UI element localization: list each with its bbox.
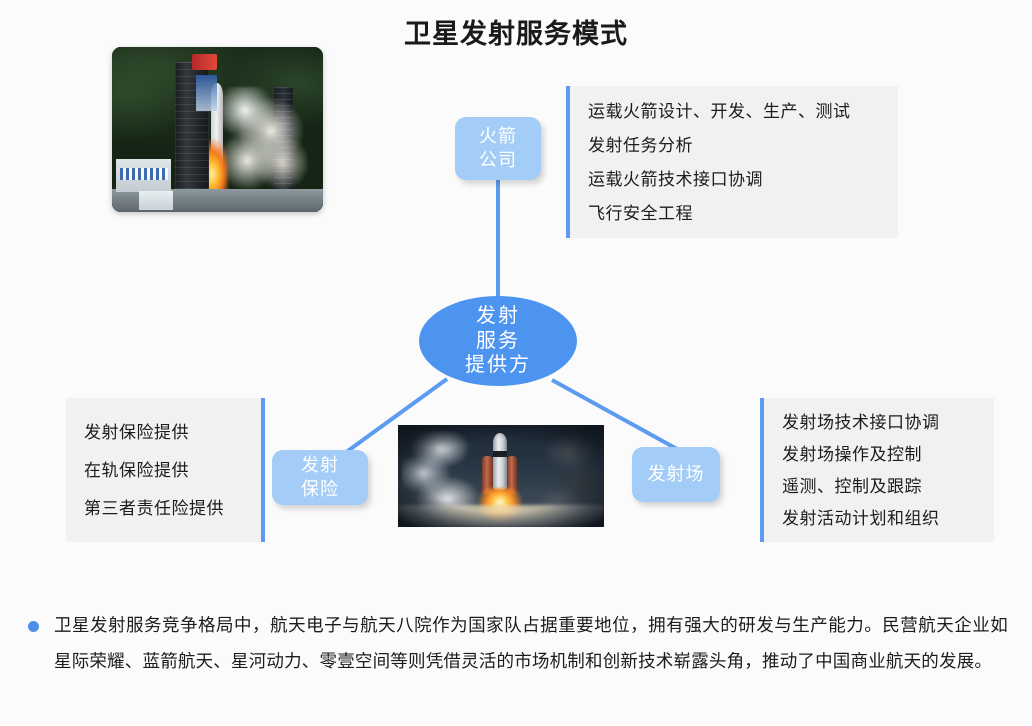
photo-tower-red-cap bbox=[192, 54, 217, 71]
list-item: 在轨保险提供 bbox=[84, 462, 265, 479]
node-rocket-company-line-2: 公司 bbox=[479, 149, 517, 172]
list-item: 发射任务分析 bbox=[588, 137, 898, 154]
node-rocket-company[interactable]: 火箭 公司 bbox=[455, 117, 541, 180]
rocket-launch-pad-photo bbox=[112, 47, 323, 212]
panel-launch-site: 发射场技术接口协调 发射场操作及控制 遥测、控制及跟踪 发射活动计划和组织 bbox=[760, 398, 994, 542]
photo-tower-blue-panel bbox=[196, 75, 217, 111]
panel-launch-site-list: 发射场技术接口协调 发射场操作及控制 遥测、控制及跟踪 发射活动计划和组织 bbox=[782, 414, 994, 527]
photo-smoke-plume bbox=[215, 87, 308, 193]
photo-liftoff-ground-glow bbox=[398, 505, 604, 527]
node-launch-insurance-line-1: 发射 bbox=[301, 454, 339, 477]
photo-building-secondary bbox=[139, 191, 173, 211]
bullet-dot-icon bbox=[28, 621, 39, 632]
node-launch-insurance[interactable]: 发射 保险 bbox=[272, 450, 368, 505]
list-item: 发射活动计划和组织 bbox=[782, 510, 994, 527]
hub-line-1: 发射 bbox=[476, 304, 520, 328]
footer-note: 卫星发射服务竞争格局中，航天电子与航天八院作为国家队占据重要地位，拥有强大的研发… bbox=[28, 608, 1008, 680]
node-launch-site[interactable]: 发射场 bbox=[632, 447, 720, 502]
photo-building bbox=[116, 159, 171, 192]
hub-line-2: 服务 bbox=[476, 329, 520, 353]
list-item: 飞行安全工程 bbox=[588, 205, 898, 222]
rocket-liftoff-photo bbox=[398, 425, 604, 527]
node-rocket-company-line-1: 火箭 bbox=[479, 125, 517, 148]
list-item: 第三者责任险提供 bbox=[84, 500, 265, 517]
panel-launch-insurance: 发射保险提供 在轨保险提供 第三者责任险提供 bbox=[66, 398, 265, 542]
panel-accent-bar bbox=[760, 398, 764, 542]
list-item: 遥测、控制及跟踪 bbox=[782, 478, 994, 495]
footer-note-text: 卫星发射服务竞争格局中，航天电子与航天八院作为国家队占据重要地位，拥有强大的研发… bbox=[54, 608, 1008, 680]
photo-soft-edge-mask bbox=[398, 425, 604, 527]
hub-launch-service-provider[interactable]: 发射 服务 提供方 bbox=[419, 296, 577, 386]
node-launch-insurance-line-2: 保险 bbox=[301, 478, 339, 501]
node-launch-site-line-1: 发射场 bbox=[648, 463, 705, 486]
photo-liftoff-rocket-body bbox=[493, 433, 507, 490]
list-item: 发射场操作及控制 bbox=[782, 446, 994, 463]
list-item: 发射保险提供 bbox=[84, 424, 265, 441]
list-item: 运载火箭技术接口协调 bbox=[588, 171, 898, 188]
panel-rocket-company-list: 运载火箭设计、开发、生产、测试 发射任务分析 运载火箭技术接口协调 飞行安全工程 bbox=[588, 103, 898, 222]
panel-accent-bar bbox=[261, 398, 265, 542]
hub-line-3: 提供方 bbox=[465, 353, 531, 377]
panel-accent-bar bbox=[566, 86, 570, 238]
panel-launch-insurance-list: 发射保险提供 在轨保险提供 第三者责任险提供 bbox=[84, 424, 265, 517]
panel-rocket-company: 运载火箭设计、开发、生产、测试 发射任务分析 运载火箭技术接口协调 飞行安全工程 bbox=[566, 86, 898, 238]
list-item: 运载火箭设计、开发、生产、测试 bbox=[588, 103, 898, 120]
page-title: 卫星发射服务模式 bbox=[0, 12, 1032, 51]
list-item: 发射场技术接口协调 bbox=[782, 414, 994, 431]
